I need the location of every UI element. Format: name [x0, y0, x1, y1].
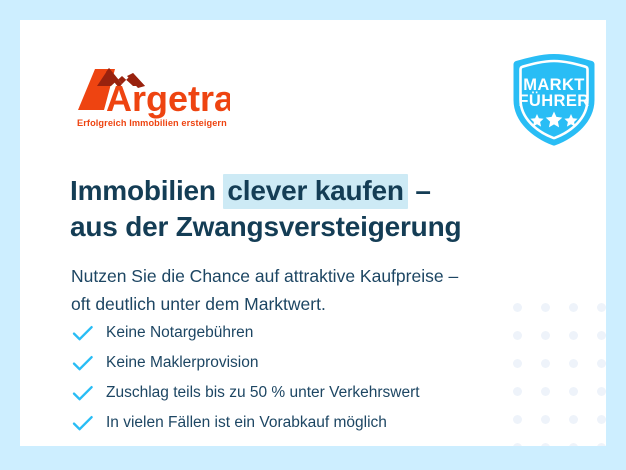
subheadline-line-2: oft deutlich unter dem Marktwert. [71, 290, 551, 318]
check-icon [72, 413, 98, 433]
decoration-dot [541, 331, 550, 340]
benefit-label: Keine Notargebühren [106, 323, 253, 343]
headline-highlight: clever kaufen [223, 174, 407, 209]
logo-wordmark: Argetra [106, 78, 230, 119]
decoration-dot [513, 359, 522, 368]
decoration-dot [597, 415, 606, 424]
argetra-logo[interactable]: Argetra Erfolgreich Immobilien ersteiger… [75, 64, 230, 130]
promo-banner: Argetra Erfolgreich Immobilien ersteiger… [0, 0, 626, 470]
decoration-dot [541, 387, 550, 396]
argetra-logo-svg: Argetra Erfolgreich Immobilien ersteiger… [75, 64, 230, 130]
decoration-dot [541, 359, 550, 368]
banner-card: Argetra Erfolgreich Immobilien ersteiger… [20, 20, 606, 446]
decoration-dot [597, 359, 606, 368]
headline-line1-before: Immobilien [70, 175, 223, 206]
decoration-dot [541, 443, 550, 446]
decoration-dot [569, 443, 578, 446]
decoration-dot [597, 331, 606, 340]
dot-grid-decoration [513, 303, 606, 446]
badge-line2: FÜHRER [518, 91, 589, 110]
benefit-label: In vielen Fällen ist ein Vorabkauf mögli… [106, 413, 387, 433]
list-item: Keine Maklerprovision [72, 348, 502, 378]
market-leader-badge: MARKT FÜHRER [507, 52, 601, 148]
headline-line-1: Immobilien clever kaufen – [70, 173, 540, 209]
benefit-label: Keine Maklerprovision [106, 353, 259, 373]
decoration-dot [597, 303, 606, 312]
decoration-dot [569, 415, 578, 424]
decoration-dot [569, 331, 578, 340]
check-icon [72, 383, 98, 403]
decoration-dot [513, 387, 522, 396]
headline-line-2: aus der Zwangsversteigerung [70, 209, 540, 245]
headline-line1-after: – [408, 175, 431, 206]
decoration-dot [513, 443, 522, 446]
benefits-list: Keine Notargebühren Keine Maklerprovisio… [72, 318, 502, 438]
decoration-dot [513, 331, 522, 340]
shield-icon: MARKT FÜHRER [507, 52, 601, 148]
headline: Immobilien clever kaufen – aus der Zwang… [70, 173, 540, 245]
decoration-dot [569, 359, 578, 368]
decoration-dot [569, 387, 578, 396]
check-icon [72, 323, 98, 343]
decoration-dot [597, 443, 606, 446]
decoration-dot [569, 303, 578, 312]
logo-tagline: Erfolgreich Immobilien ersteigern [77, 118, 227, 128]
list-item: Zuschlag teils bis zu 50 % unter Verkehr… [72, 378, 502, 408]
list-item: Keine Notargebühren [72, 318, 502, 348]
benefit-label: Zuschlag teils bis zu 50 % unter Verkehr… [106, 383, 420, 403]
decoration-dot [541, 415, 550, 424]
subheadline: Nutzen Sie die Chance auf attraktive Kau… [71, 262, 551, 318]
decoration-dot [597, 387, 606, 396]
subheadline-line-1: Nutzen Sie die Chance auf attraktive Kau… [71, 262, 551, 290]
decoration-dot [513, 415, 522, 424]
list-item: In vielen Fällen ist ein Vorabkauf mögli… [72, 408, 502, 438]
check-icon [72, 353, 98, 373]
